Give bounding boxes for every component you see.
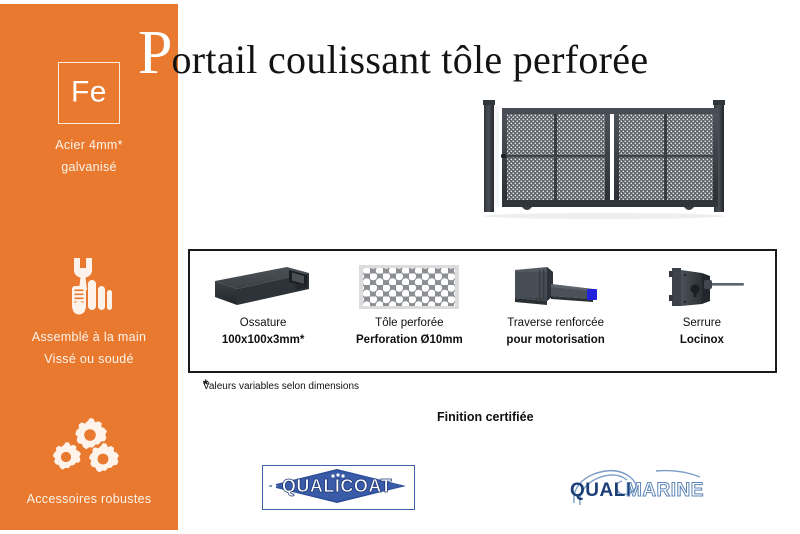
sidebar-assembly-label-1: Assemblé à la main bbox=[0, 326, 178, 348]
feature-serrure-title: Serrure bbox=[683, 315, 721, 332]
lock-icon bbox=[654, 259, 750, 315]
gears-icon bbox=[0, 416, 178, 480]
feature-tole-spec: Perforation Ø10mm bbox=[356, 332, 463, 349]
sidebar-steel-label-2: galvanisé bbox=[0, 156, 178, 178]
feature-traverse-spec: pour motorisation bbox=[506, 332, 604, 349]
sidebar-feature-assembly: Assemblé à la main Vissé ou soudé bbox=[0, 254, 178, 370]
qualicoat-logo: QUALICOAT bbox=[262, 465, 415, 510]
feature-ossature-title: Ossature bbox=[240, 315, 287, 332]
fe-symbol: Fe bbox=[59, 75, 119, 109]
perforated-sheet-icon bbox=[357, 259, 461, 315]
feature-serrure: Serrure Locinox bbox=[629, 251, 775, 371]
page-title: P ortail coulissant tôle perforée bbox=[138, 24, 648, 86]
feature-serrure-spec: Locinox bbox=[680, 332, 724, 349]
footnote-asterisk: * bbox=[203, 376, 208, 392]
qualimarine-wordmark-bold: QUALI bbox=[570, 480, 632, 501]
features-panel: Ossature 100x100x3mm* Tôle perforée Perf… bbox=[188, 249, 777, 373]
sidebar-accessories-label-1: Accessoires robustes bbox=[0, 488, 178, 510]
sidebar-assembly-label-2: Vissé ou soudé bbox=[0, 348, 178, 370]
footnote-text: Valeurs variables selon dimensions bbox=[203, 381, 359, 392]
qualicoat-wordmark: QUALICOAT bbox=[282, 476, 392, 496]
qualimarine-wordmark-outline: MARINE bbox=[626, 480, 704, 501]
page-title-rest: ortail coulissant tôle perforée bbox=[171, 37, 648, 83]
qualimarine-logo: QUALI MARINE bbox=[560, 463, 730, 511]
hand-wrench-icon bbox=[0, 254, 178, 318]
fe-element-box-icon: Fe bbox=[58, 62, 120, 124]
page-title-capital: P bbox=[138, 24, 172, 82]
sidebar-steel-label-1: Acier 4mm* bbox=[0, 134, 178, 156]
feature-traverse-title: Traverse renforcée bbox=[507, 315, 604, 332]
feature-ossature-spec: 100x100x3mm* bbox=[222, 332, 305, 349]
sidebar-feature-accessories: Accessoires robustes bbox=[0, 416, 178, 510]
steel-profile-icon bbox=[209, 259, 317, 315]
reinforced-crossbar-icon bbox=[501, 259, 611, 315]
certification-heading: Finition certifiée bbox=[437, 410, 534, 424]
feature-ossature: Ossature 100x100x3mm* bbox=[190, 251, 336, 371]
feature-traverse: Traverse renforcée pour motorisation bbox=[483, 251, 629, 371]
feature-tole-perforee: Tôle perforée Perforation Ø10mm bbox=[336, 251, 482, 371]
feature-tole-title: Tôle perforée bbox=[375, 315, 443, 332]
sliding-gate-illustration bbox=[474, 98, 734, 220]
